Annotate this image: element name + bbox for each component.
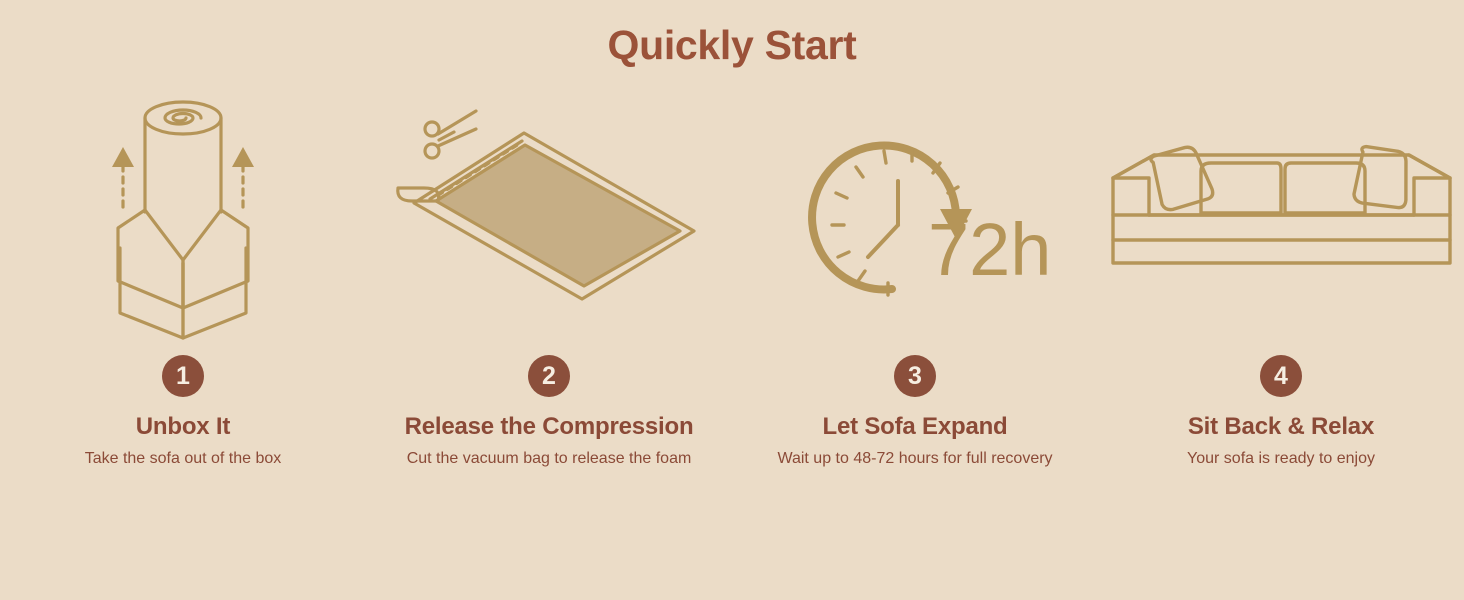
step-desc-4: Your sofa is ready to enjoy xyxy=(1187,450,1375,468)
step-title-1: Unbox It xyxy=(136,413,230,441)
page-title: Quickly Start xyxy=(0,22,1464,69)
step-card-3: 72h 3 Let Sofa Expand Wait up to 48-72 h… xyxy=(732,80,1098,468)
step-1-icon-container xyxy=(0,80,366,345)
step-2-icon-container xyxy=(366,80,732,345)
step-card-2: 2 Release the Compression Cut the vacuum… xyxy=(366,80,732,468)
step-3-icon-container: 72h xyxy=(732,80,1098,345)
vacuum-bag-with-scissors-icon xyxy=(394,113,704,313)
clock-duration-label: 72h xyxy=(928,208,1051,291)
step-4-icon-container xyxy=(1098,80,1464,345)
step-number-badge-1: 1 xyxy=(162,355,204,397)
step-desc-2: Cut the vacuum bag to release the foam xyxy=(407,450,692,468)
step-title-3: Let Sofa Expand xyxy=(822,413,1007,441)
step-title-2: Release the Compression xyxy=(405,413,694,441)
step-desc-3: Wait up to 48-72 hours for full recovery xyxy=(777,450,1052,468)
sofa-icon xyxy=(1109,145,1454,280)
step-desc-1: Take the sofa out of the box xyxy=(85,450,282,468)
infographic-page: Quickly Start xyxy=(0,0,1464,600)
open-box-with-rolled-sofa-icon xyxy=(98,85,268,340)
step-title-4: Sit Back & Relax xyxy=(1188,413,1374,441)
step-number-badge-2: 2 xyxy=(528,355,570,397)
step-number-badge-4: 4 xyxy=(1260,355,1302,397)
step-card-4: 4 Sit Back & Relax Your sofa is ready to… xyxy=(1098,80,1464,468)
step-card-1: 1 Unbox It Take the sofa out of the box xyxy=(0,80,366,468)
steps-row: 1 Unbox It Take the sofa out of the box xyxy=(0,80,1464,468)
step-number-badge-3: 3 xyxy=(894,355,936,397)
clock-72h-icon: 72h xyxy=(800,123,1030,303)
